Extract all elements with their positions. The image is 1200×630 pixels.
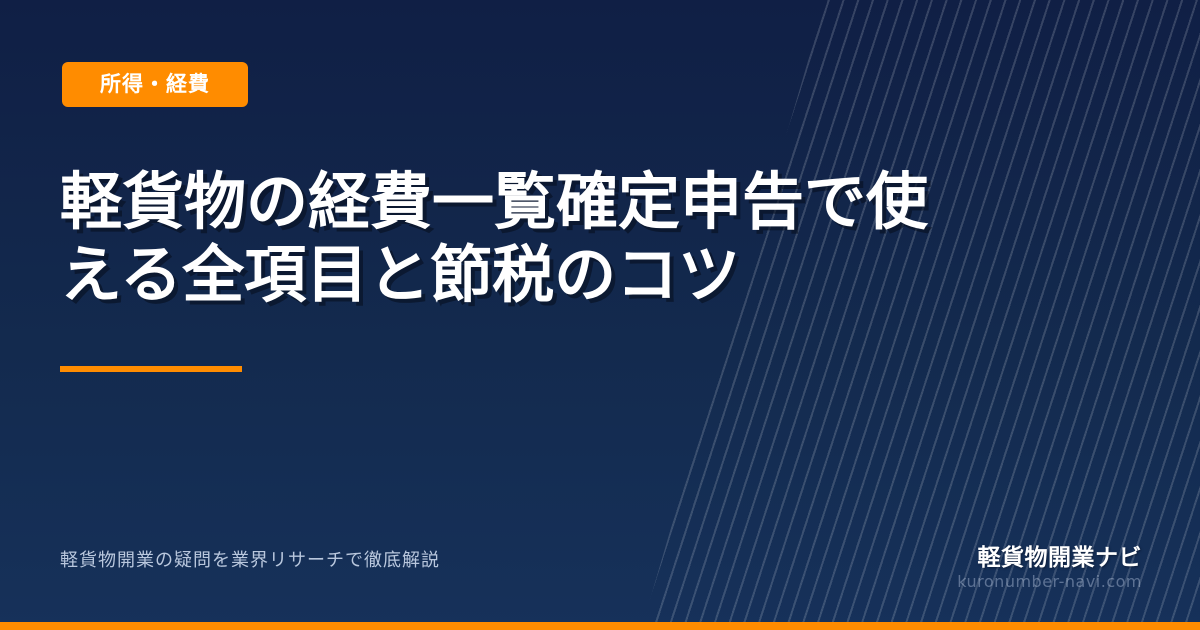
page-title-line-2: える全項目と節税のコツ [60, 239, 1120, 312]
bottom-accent-bar [0, 622, 1200, 630]
og-image-card: 所得・経費 軽貨物の経費一覧確定申告で使 える全項目と節税のコツ 軽貨物開業の疑… [0, 0, 1200, 630]
site-logo: 軽貨物開業ナビ kuronumber-navi.com [957, 545, 1142, 592]
title-accent-bar [60, 366, 242, 372]
site-logo-url: kuronumber-navi.com [957, 572, 1142, 591]
site-logo-name: 軽貨物開業ナビ [957, 545, 1142, 571]
category-badge: 所得・経費 [62, 62, 248, 107]
diagonal-stripe-pattern [620, 0, 1200, 630]
page-title-line-1: 軽貨物の経費一覧確定申告で使 [60, 166, 1120, 239]
page-title: 軽貨物の経費一覧確定申告で使 える全項目と節税のコツ [60, 166, 1120, 311]
site-tagline: 軽貨物開業の疑問を業界リサーチで徹底解説 [60, 549, 440, 572]
category-badge-label: 所得・経費 [100, 74, 210, 95]
